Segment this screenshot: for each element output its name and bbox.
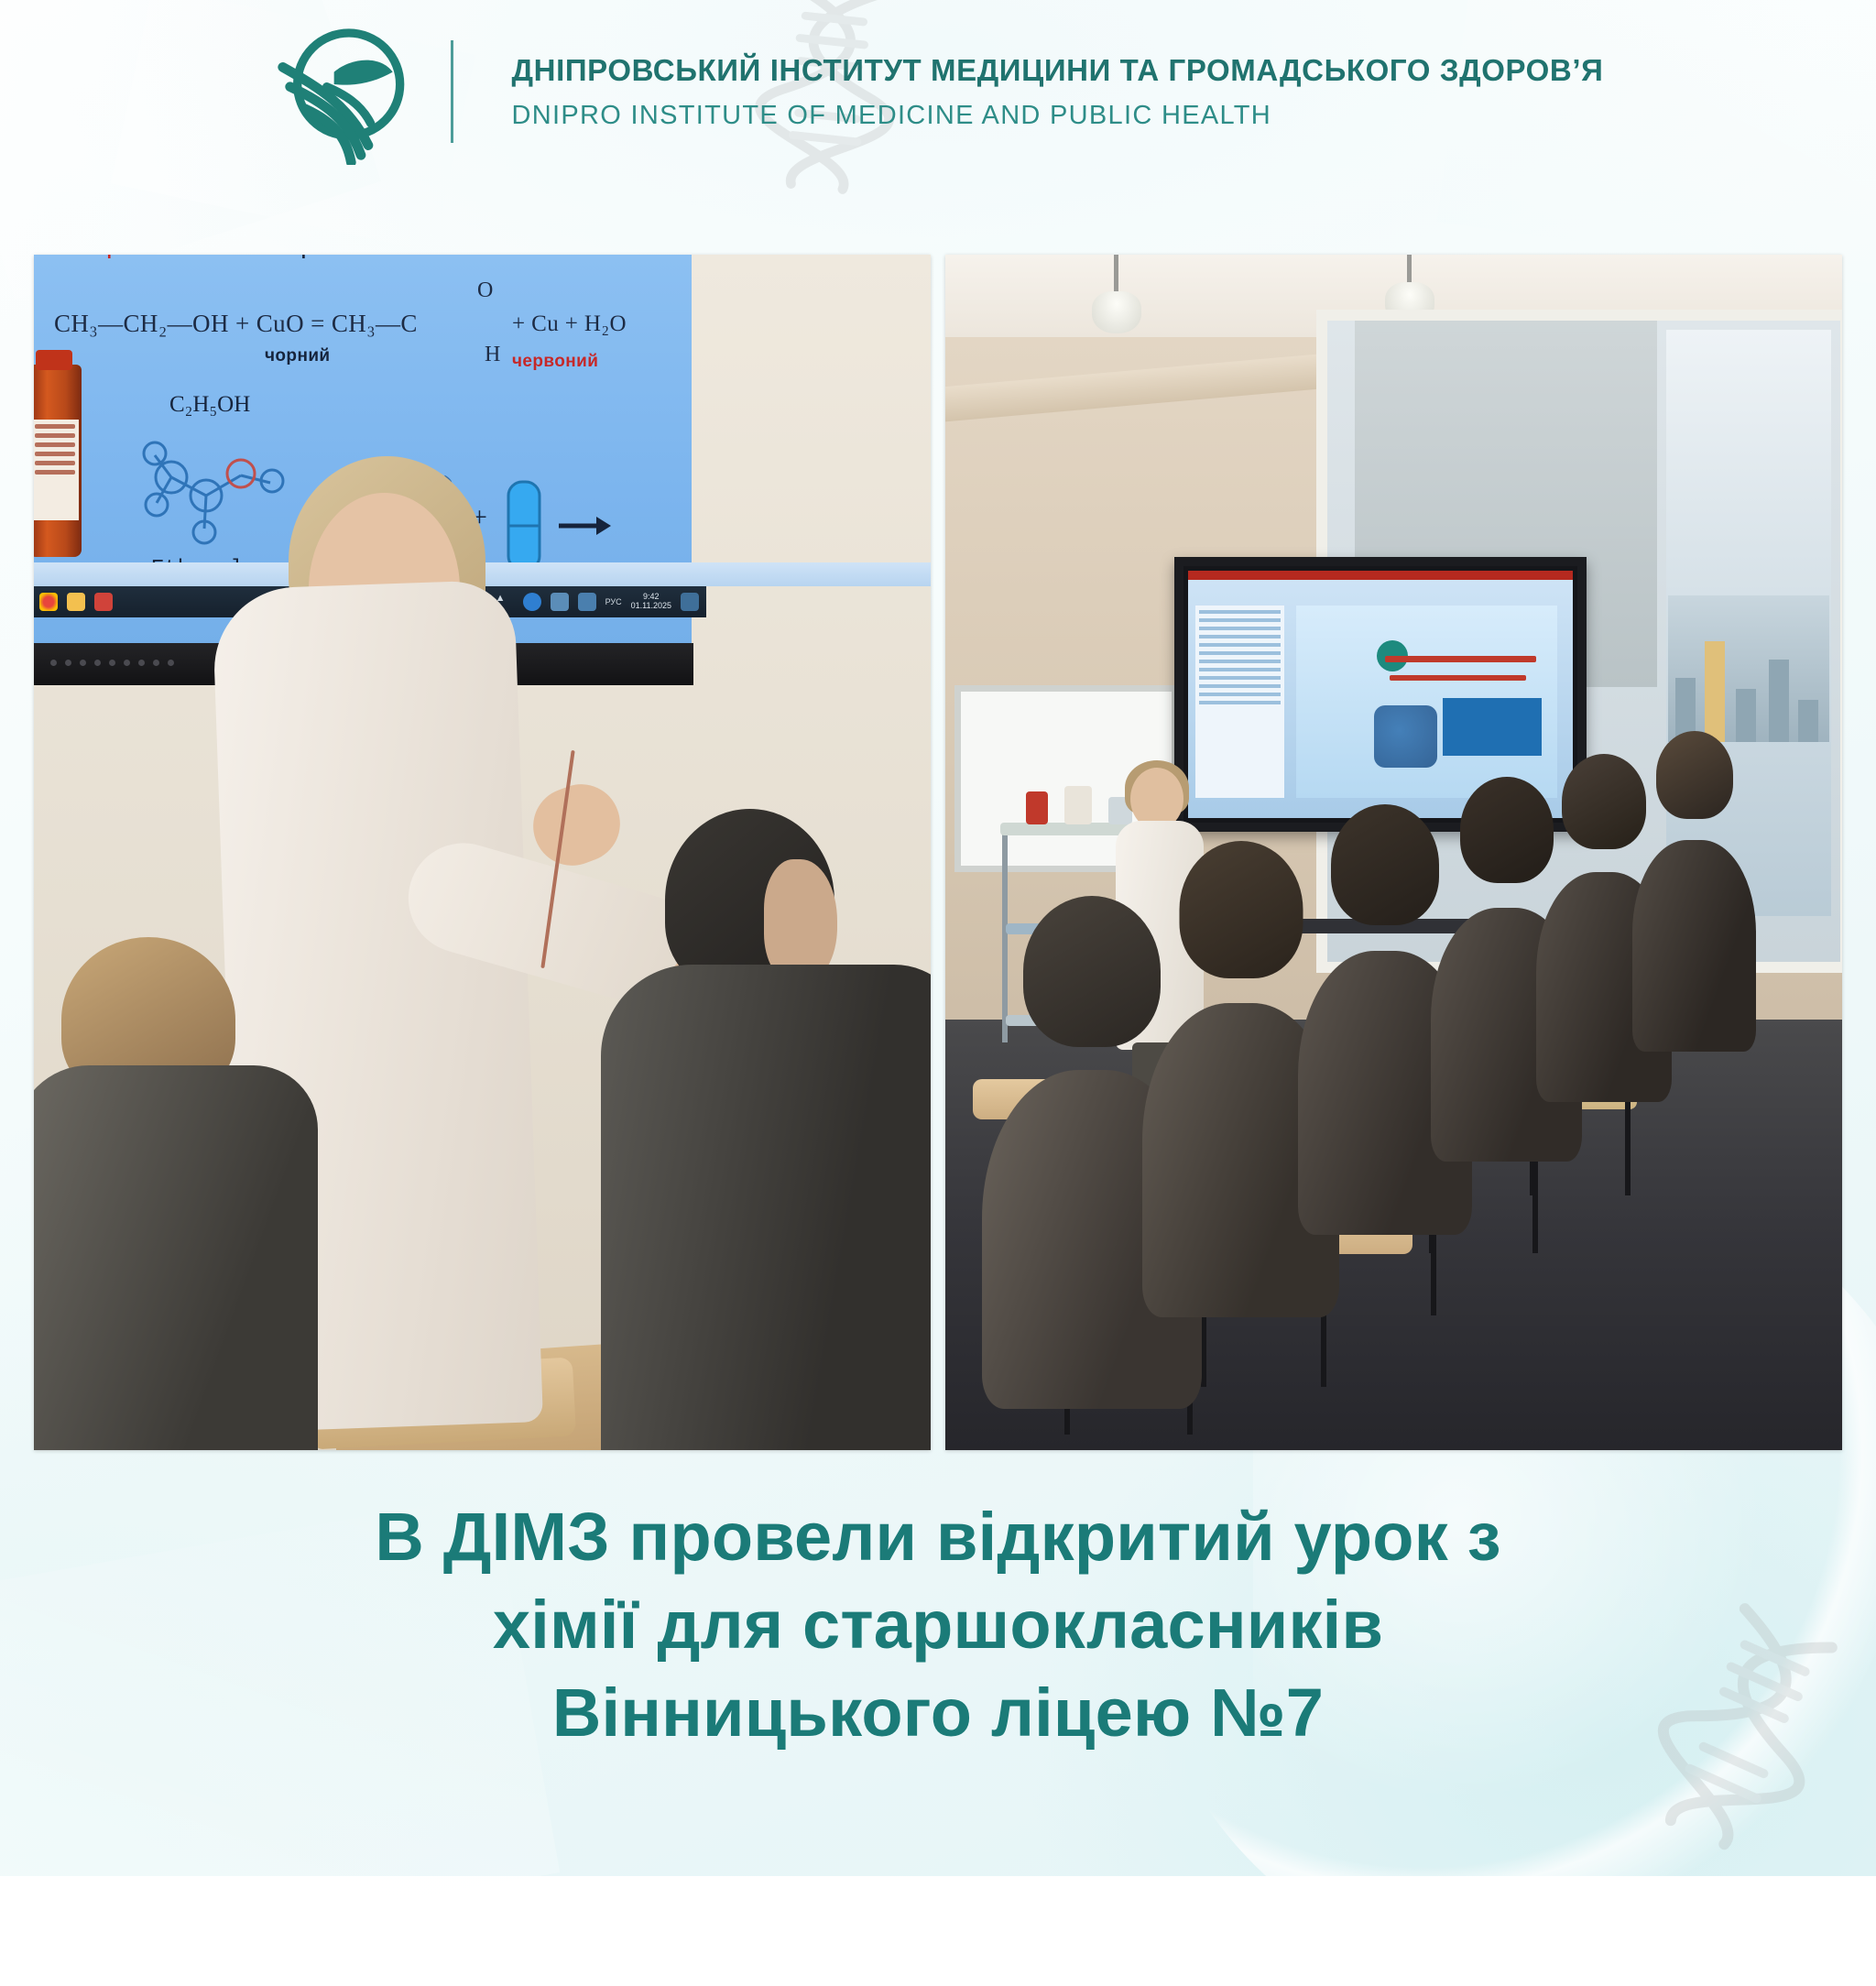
dimph-circular-emblem-logo [273,18,420,165]
brand-titles: ДНІПРОВСЬКИЙ ІНСТИТУТ МЕДИЦИНИ ТА ГРОМАД… [485,53,1604,131]
folder-icon[interactable] [67,593,85,611]
equation-main: CH₃—CH₂—OH + CuO = CH₃—C O H + Cu + H₂O … [54,310,659,338]
app-titlebar [1188,571,1573,580]
photo-classroom-audience [945,255,1842,1450]
chrome-icon[interactable] [39,593,58,611]
brand-divider [451,40,453,143]
white-container [1064,786,1092,824]
caption-line-3: Вінницького ліцею №7 [0,1669,1876,1757]
clock-date: 01.11.2025 [631,601,671,610]
slide-title-line-1 [1385,656,1537,662]
caption-block: В ДІМЗ провели відкритий урок з хімії дл… [0,1493,1876,1758]
taskbar-clock[interactable]: 9:42 01.11.2025 [631,593,671,611]
label-red-chervonyi: червоний [87,255,170,260]
slide-blue-panel [1443,698,1543,756]
seated-student [1632,731,1756,1052]
clock-time: 9:42 [643,592,660,601]
equation-tail: + Cu + H₂O [512,311,627,337]
caption-line-2: хімії для старшокласників [0,1581,1876,1669]
molecule-illustration [1374,705,1437,767]
current-slide [1296,606,1558,799]
student-jacket [34,1065,318,1450]
caption-line-1: В ДІМЗ провели відкритий урок з [0,1493,1876,1581]
slide-title-line-2 [1390,675,1526,681]
notifications-icon[interactable] [681,593,699,611]
institute-title-ua: ДНІПРОВСЬКИЙ ІНСТИТУТ МЕДИЦИНИ ТА ГРОМАД… [512,53,1604,88]
institute-title-en: DNIPRO INSTITUTE OF MEDICINE AND PUBLIC … [512,101,1604,131]
keyboard-layout-indicator[interactable]: РУС [605,597,622,606]
student-foreground-right [628,809,931,1450]
equation-color-labels: червоний чорний [87,255,637,260]
equation-main-text: CH₃—CH₂—OH + CuO = CH₃—C [54,310,418,337]
photo-teacher-with-vial: + O₂ + 2 CuO червоний чорний CH₃—CH₂—OH … [34,255,931,1450]
bottle-cap [36,350,72,370]
photo-collage: + O₂ + 2 CuO червоний чорний CH₃—CH₂—OH … [34,255,1842,1450]
pdf-reader-icon[interactable] [94,593,113,611]
equation-oxygen: O [477,278,494,303]
brand-lockup: ДНІПРОВСЬКИЙ ІНСТИТУТ МЕДИЦИНИ ТА ГРОМАД… [273,18,1604,165]
student-foreground-left [34,937,309,1450]
bottle-label [34,420,79,520]
label-black-chornyi: чорний [280,255,344,260]
reagent-bottle [34,365,82,557]
red-bottle [1026,791,1048,824]
poster-canvas: ДНІПРОВСЬКИЙ ІНСТИТУТ МЕДИЦИНИ ТА ГРОМАД… [0,0,1876,1876]
student-jacket [601,965,931,1450]
pendant-lamp-icon [1092,255,1141,337]
bezel-control-dots [50,660,174,666]
outside-skyline [1668,595,1829,742]
header-bar: ДНІПРОВСЬКИЙ ІНСТИТУТ МЕДИЦИНИ ТА ГРОМАД… [0,0,1876,183]
